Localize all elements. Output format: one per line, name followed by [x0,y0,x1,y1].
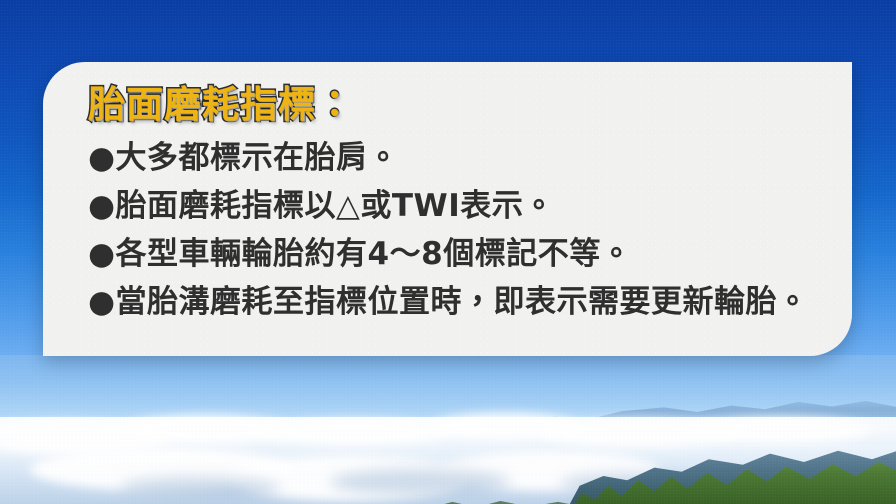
list-item: ●當胎溝磨耗至指標位置時，即表示需要更新輪胎。 [88,279,828,327]
list-item: ●胎面磨耗指標以△或TWI表示。 [88,183,828,231]
bullet-list: ●大多都標示在胎肩。 ●胎面磨耗指標以△或TWI表示。 ●各型車輛輪胎約有4〜8… [88,135,828,326]
cloud-shadow [330,469,510,495]
cloud-puff [690,417,870,443]
list-item: ●各型車輛輪胎約有4〜8個標記不等。 [88,231,828,279]
page-title: 胎面磨耗指標： [88,84,828,125]
screenshot-stage: 胎面磨耗指標： ●大多都標示在胎肩。 ●胎面磨耗指標以△或TWI表示。 ●各型車… [0,0,896,504]
cloud-shadow [120,477,280,499]
cloud-puff [260,419,450,445]
list-item: ●大多都標示在胎肩。 [88,135,828,183]
info-card: 胎面磨耗指標： ●大多都標示在胎肩。 ●胎面磨耗指標以△或TWI表示。 ●各型車… [43,62,852,356]
landscape-background [0,355,896,504]
card-content: 胎面磨耗指標： ●大多都標示在胎肩。 ●胎面磨耗指標以△或TWI表示。 ●各型車… [43,62,852,326]
